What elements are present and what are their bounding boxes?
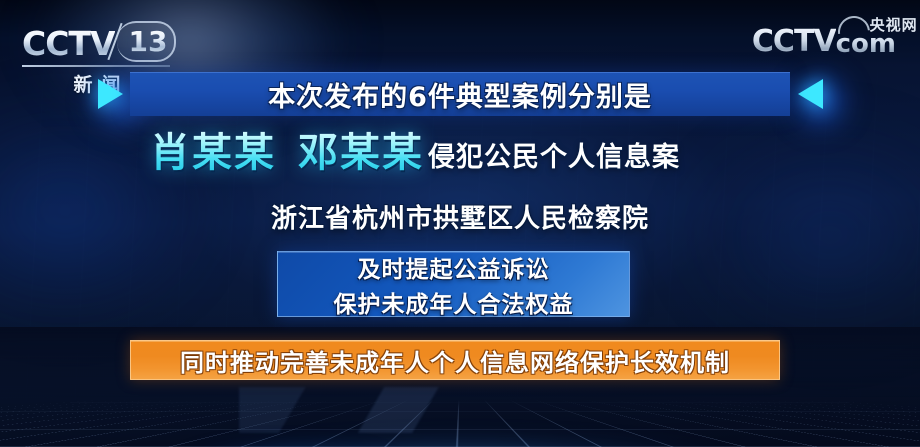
headline-banner-title: 本次发布的6件典型案例分别是 — [130, 72, 790, 116]
headline-banner: 本次发布的6件典型案例分别是 — [130, 72, 790, 116]
logo-underline-rule — [22, 65, 170, 67]
case-name-1: 肖某某 — [150, 130, 276, 176]
cctvcom-watermark: CCTV 央视网 com — [752, 26, 896, 58]
blue-callout-line-2: 保护未成年人合法权益 — [334, 285, 574, 319]
orange-callout-text: 同时推动完善未成年人个人信息网络保护长效机制 — [180, 343, 730, 378]
blue-callout-box: 及时提起公益诉讼 保护未成年人合法权益 — [277, 251, 630, 317]
case-name-2: 邓某某 — [298, 130, 424, 176]
channel-number: 13 — [129, 27, 168, 57]
prosecutor-office-label: 浙江省杭州市拱墅区人民检察院 — [0, 198, 920, 235]
broadcast-graphic-screen: CCTV 13 新闻 CCTV 央视网 com 本次发布的6件典型案例分别是 肖… — [0, 0, 920, 447]
cctvcom-right-group: 央视网 com — [836, 30, 896, 58]
play-triangle-right-icon — [98, 79, 123, 109]
blue-callout-line-1: 及时提起公益诉讼 — [358, 250, 550, 284]
orange-callout-box: 同时推动完善未成年人个人信息网络保护长效机制 — [130, 340, 780, 380]
case-names-line: 肖某某 邓某某 侵犯公民个人信息案 — [150, 130, 680, 176]
floor-glow-left — [129, 397, 442, 447]
cctvcom-cn-name: 央视网 — [870, 14, 918, 35]
play-triangle-left-icon — [798, 79, 823, 109]
channel-number-badge: 13 — [117, 21, 177, 62]
case-type-label: 侵犯公民个人信息案 — [428, 135, 680, 174]
cctv-wordmark: CCTV — [22, 26, 115, 62]
cctvcom-wordmark: CCTV — [752, 26, 836, 58]
cctv13-logo-row: CCTV 13 — [22, 22, 182, 62]
